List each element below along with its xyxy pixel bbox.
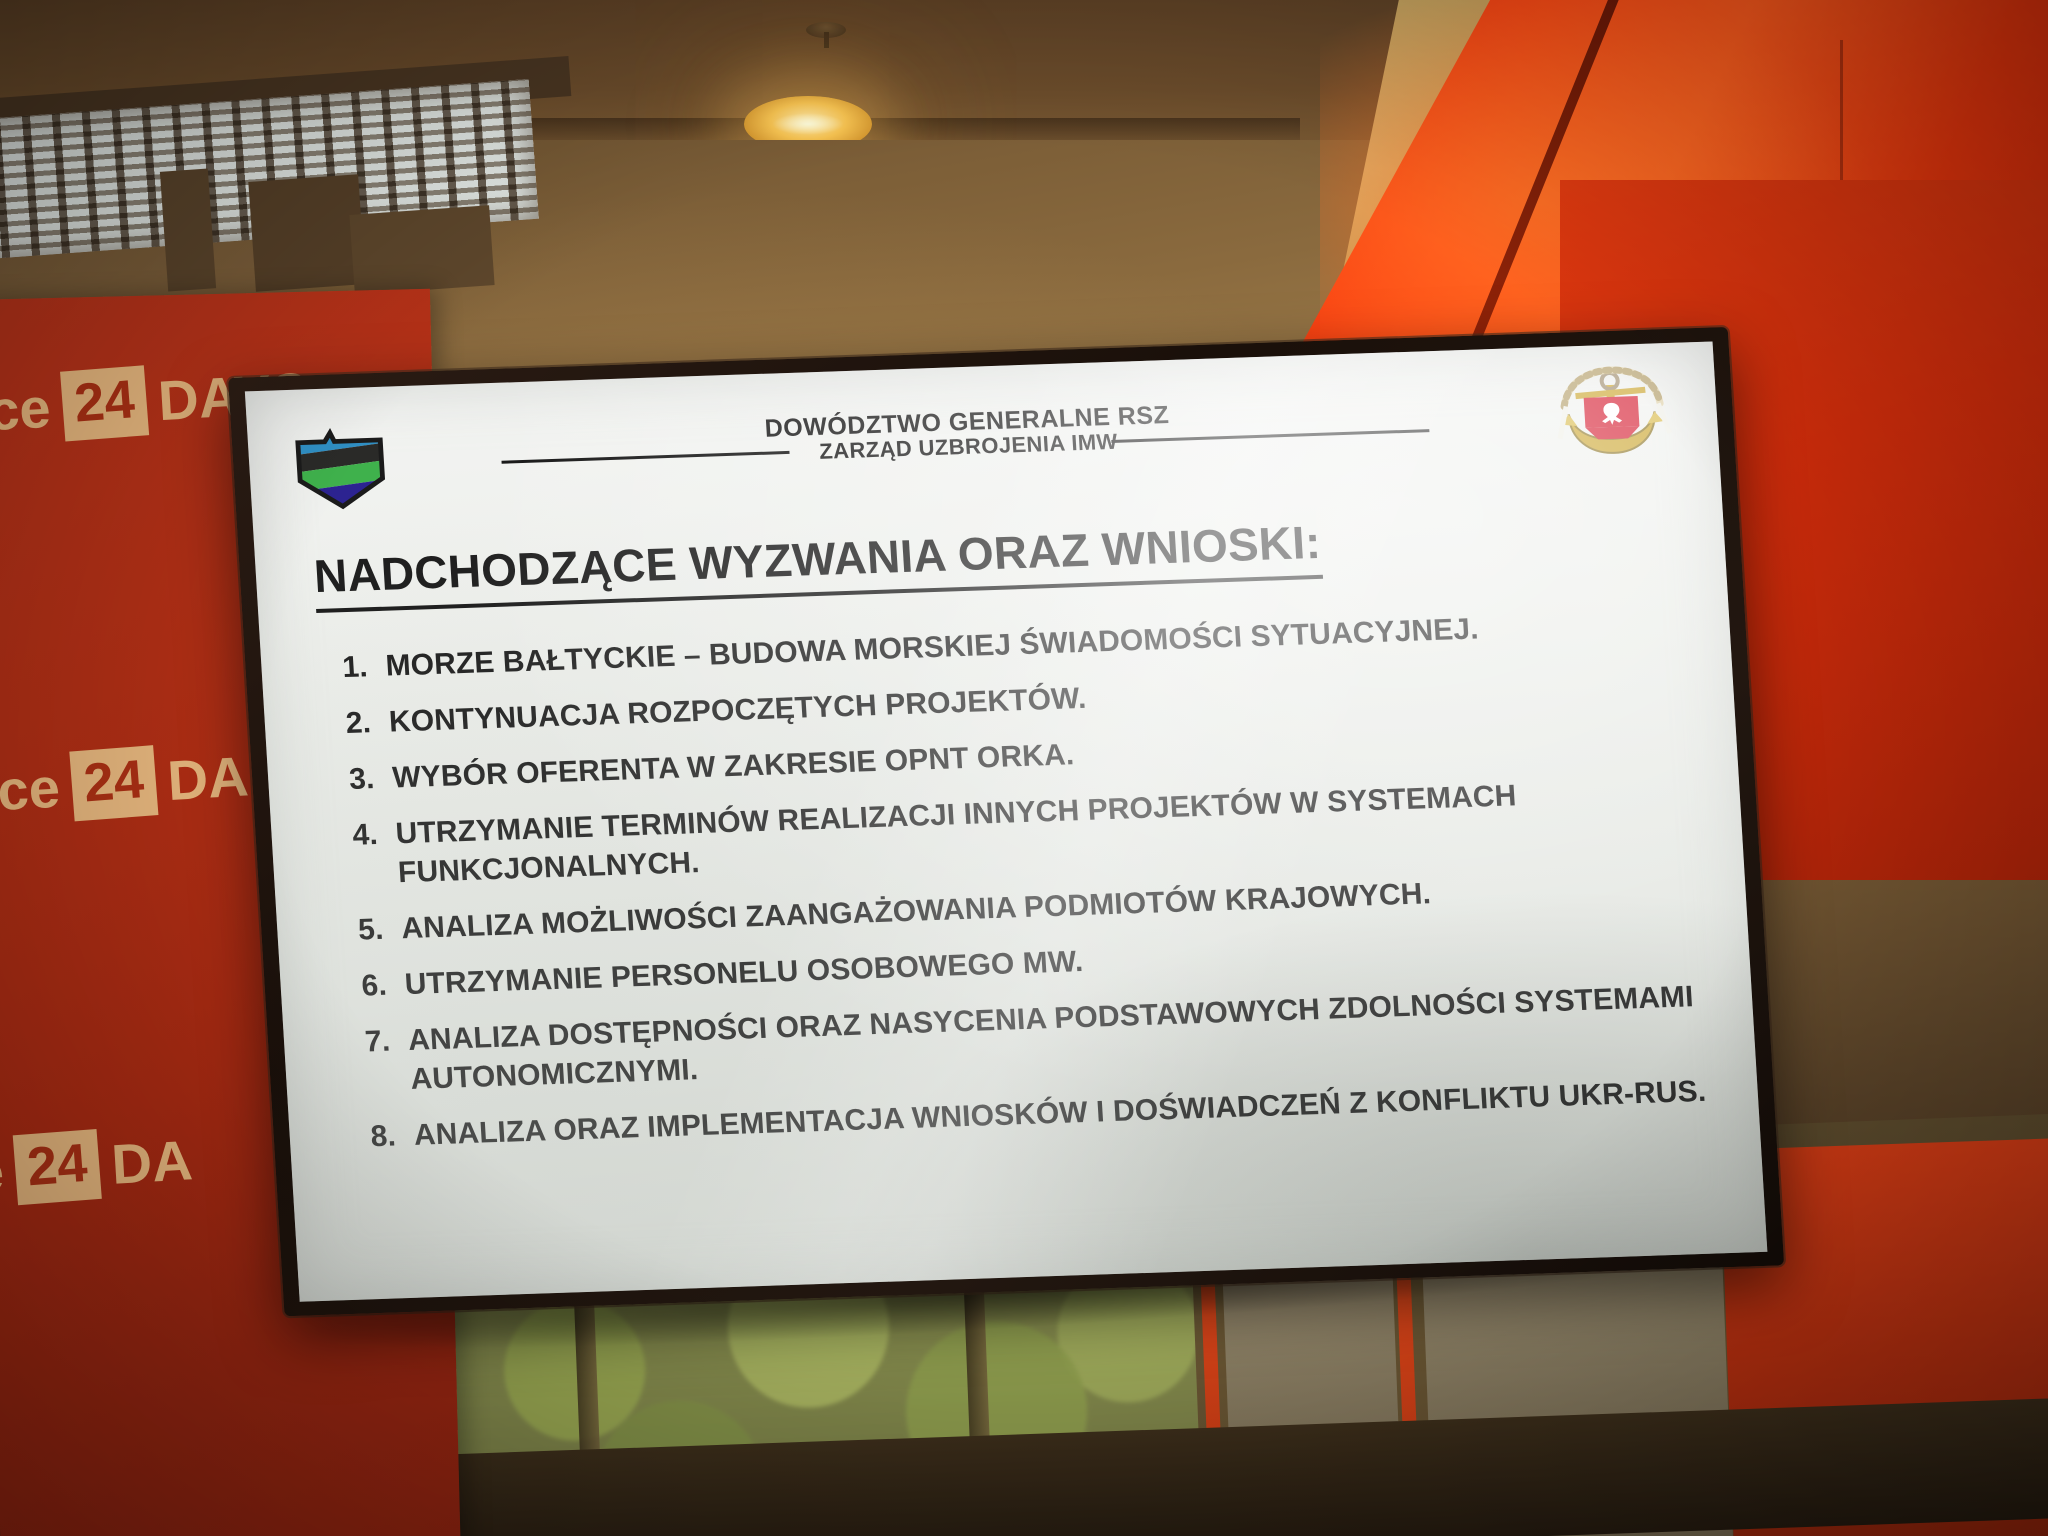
dowodztwo-generalne-shield-logo (291, 419, 393, 514)
list-item-number: 5. (336, 910, 384, 950)
list-item-number: 3. (327, 759, 375, 799)
window-post (248, 174, 365, 291)
wall-mounted-display: DOWÓDZTWO GENERALNE RSZ ZARZĄD UZBROJENI… (228, 327, 1784, 1316)
banner-number-chip: 24 (69, 745, 158, 821)
banner-number-chip: 24 (60, 365, 149, 441)
banner-suffix-text: DA (166, 743, 251, 813)
photo-scene: ence 24 DAYS ence 24 DA ce 24 DA (0, 0, 2048, 1536)
banner-prefix-text: ce (0, 1138, 6, 1207)
banner-prefix-text: ence (0, 374, 52, 446)
banner-suffix-text: DA (110, 1127, 195, 1197)
banner-prefix-text: ence (0, 754, 62, 826)
display-screen: DOWÓDZTWO GENERALNE RSZ ZARZĄD UZBROJENI… (245, 341, 1768, 1301)
list-item-number: 8. (349, 1116, 397, 1156)
list-item-number: 1. (320, 647, 368, 687)
page-title: NADCHODZĄCE WYZWANIA ORAZ WNIOSKI: (312, 515, 1322, 613)
window-post (349, 205, 494, 295)
list-item-number: 7. (343, 1022, 391, 1062)
banner-number-chip: 24 (13, 1129, 102, 1205)
challenges-list: 1. MORZE BAŁTYCKIE – BUDOWA MORSKIEJ ŚWI… (294, 602, 1724, 1158)
sprinkler-head-icon (806, 22, 846, 38)
list-item-number: 6. (340, 966, 388, 1006)
slide-header-text: DOWÓDZTWO GENERALNE RSZ ZARZĄD UZBROJENI… (386, 373, 1548, 479)
window-post (160, 168, 216, 291)
polish-navy-anchor-eagle-emblem (1544, 363, 1680, 463)
list-item-number: 2. (324, 703, 372, 743)
presentation-slide: DOWÓDZTWO GENERALNE RSZ ZARZĄD UZBROJENI… (245, 341, 1768, 1301)
list-item-number: 4. (331, 815, 379, 855)
